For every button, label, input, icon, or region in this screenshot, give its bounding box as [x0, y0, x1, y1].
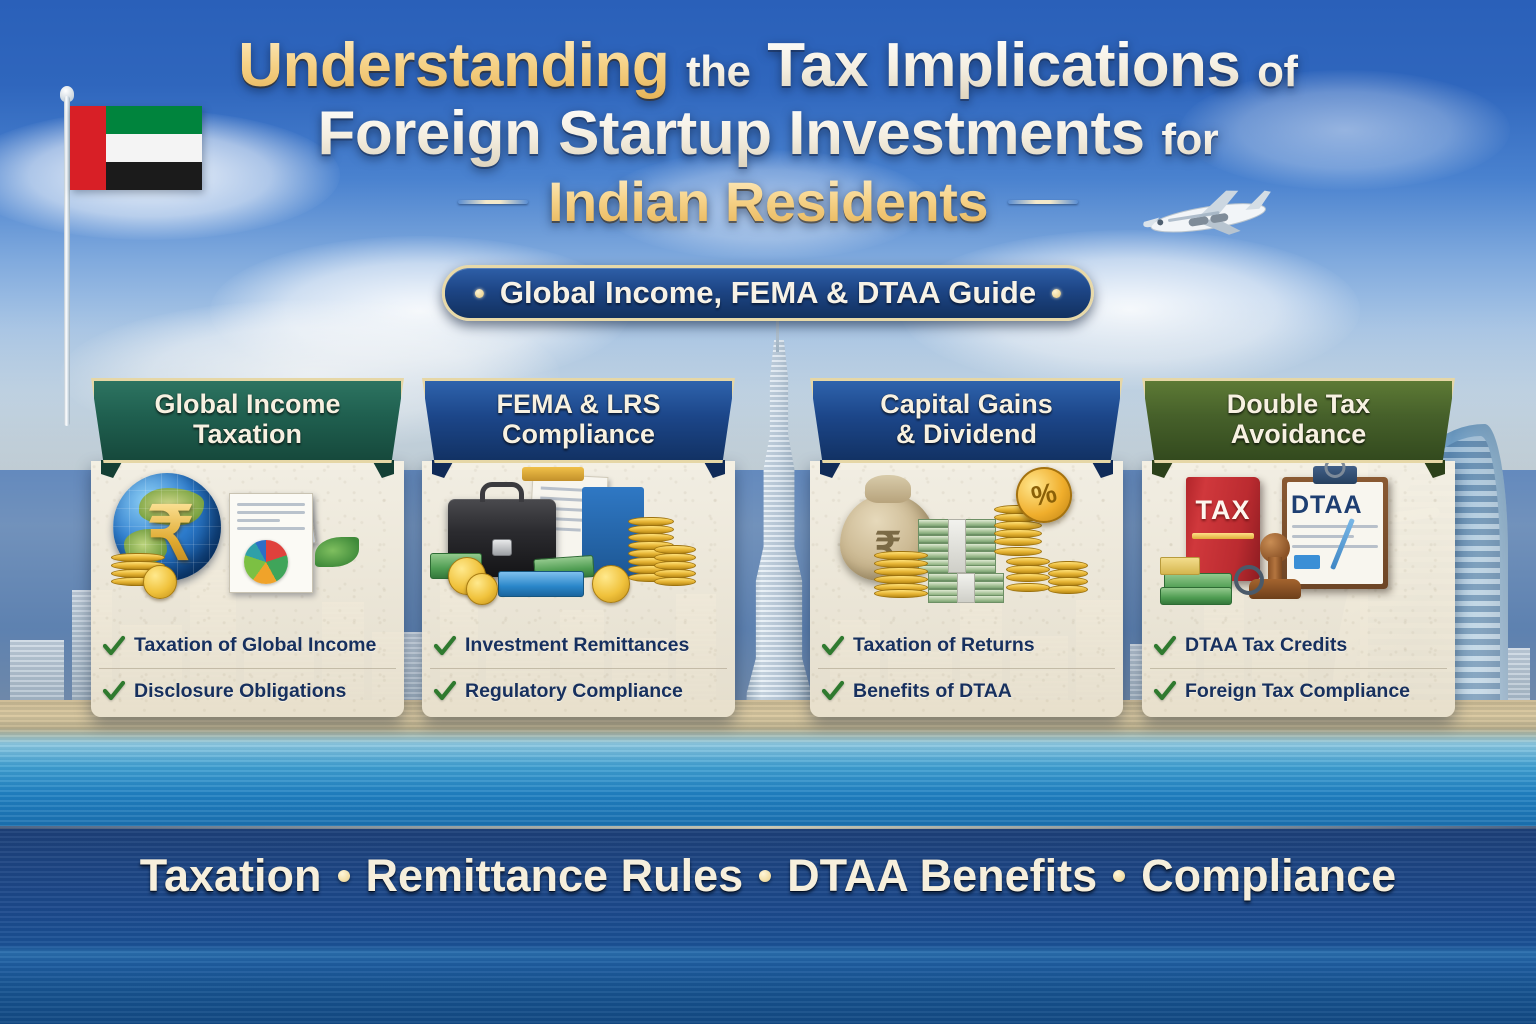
card-heading-line2: Taxation: [193, 420, 302, 450]
card-body: TAX DTAA: [1142, 461, 1455, 717]
banknote-icon: [498, 571, 584, 597]
pie-chart-icon: [244, 540, 288, 584]
card-bullets: Investment Remittances Regulatory Compli…: [422, 623, 735, 713]
bullet-text: Taxation of Returns: [853, 634, 1035, 657]
card-global-income-taxation[interactable]: Global Income Taxation ₹: [91, 378, 404, 717]
check-icon: [434, 680, 456, 702]
bullet-text: Disclosure Obligations: [134, 680, 346, 703]
bullet-item: Disclosure Obligations: [99, 668, 396, 713]
check-icon: [103, 680, 125, 702]
card-heading-line2: Avoidance: [1231, 420, 1367, 450]
bullet-item: DTAA Tax Credits: [1150, 623, 1447, 668]
bullet-dot-icon: [759, 870, 771, 882]
footer-item-dtaa-benefits: DTAA Benefits: [787, 850, 1097, 902]
bullet-text: Foreign Tax Compliance: [1185, 680, 1410, 703]
check-icon: [822, 680, 844, 702]
title-dash-left: [458, 200, 528, 204]
card-capital-gains-dividend[interactable]: Capital Gains & Dividend ₹: [810, 378, 1123, 717]
document-icon: [229, 493, 313, 593]
banknote-icon: [1160, 587, 1232, 605]
coin-icon: [592, 565, 630, 603]
card-heading-line1: Double Tax: [1227, 390, 1371, 420]
title-the: the: [686, 47, 751, 96]
footer-item-taxation: Taxation: [140, 850, 322, 902]
coin-stack-icon: [1048, 561, 1088, 601]
coin-stack-icon: [654, 545, 696, 593]
bullet-item: Taxation of Returns: [818, 623, 1115, 668]
infographic-poster: Understanding the Tax Implications of Fo…: [0, 0, 1536, 1024]
bullet-text: Regulatory Compliance: [465, 680, 683, 703]
card-bullets: DTAA Tax Credits Foreign Tax Compliance: [1142, 623, 1455, 713]
coin-stack-icon: [874, 551, 928, 599]
bullet-dot-icon: [338, 870, 350, 882]
card-artwork-briefcase-documents-coins: [422, 461, 735, 623]
title-dash-right: [1008, 200, 1078, 204]
banknote-icon: [1160, 557, 1200, 575]
title-line-3: Indian Residents: [0, 173, 1536, 231]
bullet-item: Foreign Tax Compliance: [1150, 668, 1447, 713]
cash-bundle-icon: [928, 573, 1004, 603]
card-heading-line1: FEMA & LRS: [497, 390, 661, 420]
card-artwork-moneybag-cash-coins-percent: ₹: [810, 461, 1123, 623]
card-body: Investment Remittances Regulatory Compli…: [422, 461, 735, 717]
card-heading-line2: Compliance: [502, 420, 655, 450]
card-header-ribbon: Double Tax Avoidance: [1142, 378, 1455, 463]
card-heading-line2: & Dividend: [896, 420, 1037, 450]
subtitle-banner: Global Income, FEMA & DTAA Guide: [442, 265, 1094, 321]
bullet-dot-icon: [1113, 870, 1125, 882]
coin-icon: [143, 565, 177, 599]
check-icon: [1154, 635, 1176, 657]
card-header-ribbon: Global Income Taxation: [91, 378, 404, 463]
title-line-2: Foreign Startup Investments for: [0, 102, 1536, 166]
footer-item-compliance: Compliance: [1141, 850, 1396, 902]
card-artwork-globe-rupee-documents: ₹: [91, 461, 404, 623]
check-icon: [434, 635, 456, 657]
poster-title-block: Understanding the Tax Implications of Fo…: [0, 34, 1536, 231]
cards-row: Global Income Taxation ₹: [0, 378, 1536, 728]
tax-book-label: TAX: [1196, 495, 1251, 526]
coin-icon: [466, 573, 498, 605]
title-of: of: [1257, 47, 1298, 96]
card-fema-lrs-compliance[interactable]: FEMA & LRS Compliance: [422, 378, 735, 717]
cash-bundle-icon: [918, 519, 996, 573]
card-body: ₹: [810, 461, 1123, 717]
bullet-item: Regulatory Compliance: [430, 668, 727, 713]
check-icon: [103, 635, 125, 657]
card-header-ribbon: Capital Gains & Dividend: [810, 378, 1123, 463]
bullet-dot-icon: [475, 289, 484, 298]
card-bullets: Taxation of Returns Benefits of DTAA: [810, 623, 1123, 713]
magnifier-icon: [1234, 565, 1264, 595]
card-header-ribbon: FEMA & LRS Compliance: [422, 378, 735, 463]
bullet-text: Taxation of Global Income: [134, 634, 376, 657]
title-line-1: Understanding the Tax Implications of: [0, 34, 1536, 98]
title-foreign-startup-investments: Foreign Startup Investments: [318, 99, 1145, 168]
footer-banner: Taxation Remittance Rules DTAA Benefits …: [0, 826, 1536, 1024]
coin-stack-icon: [1006, 557, 1050, 601]
dtaa-label: DTAA: [1291, 491, 1363, 520]
footer-keywords: Taxation Remittance Rules DTAA Benefits …: [140, 850, 1396, 902]
check-icon: [822, 635, 844, 657]
card-heading-line1: Capital Gains: [880, 390, 1053, 420]
card-artwork-tax-book-dtaa-clipboard-stamp: TAX DTAA: [1142, 461, 1455, 623]
card-bullets: Taxation of Global Income Disclosure Obl…: [91, 623, 404, 713]
bullet-text: DTAA Tax Credits: [1185, 634, 1347, 657]
bullet-dot-icon: [1052, 289, 1061, 298]
card-heading-line1: Global Income: [154, 390, 340, 420]
bullet-item: Investment Remittances: [430, 623, 727, 668]
card-body: ₹: [91, 461, 404, 717]
bullet-text: Investment Remittances: [465, 634, 689, 657]
title-tax-implications: Tax Implications: [767, 31, 1240, 100]
footer-item-remittance-rules: Remittance Rules: [366, 850, 744, 902]
card-double-tax-avoidance[interactable]: Double Tax Avoidance TAX DTAA: [1142, 378, 1455, 717]
check-icon: [1154, 680, 1176, 702]
bullet-text: Benefits of DTAA: [853, 680, 1012, 703]
subtitle-text: Global Income, FEMA & DTAA Guide: [500, 275, 1036, 311]
bullet-item: Taxation of Global Income: [99, 623, 396, 668]
title-indian-residents: Indian Residents: [548, 173, 988, 231]
title-for: for: [1161, 115, 1218, 164]
leaf-icon: [315, 537, 359, 567]
bullet-item: Benefits of DTAA: [818, 668, 1115, 713]
title-understanding: Understanding: [238, 31, 669, 100]
